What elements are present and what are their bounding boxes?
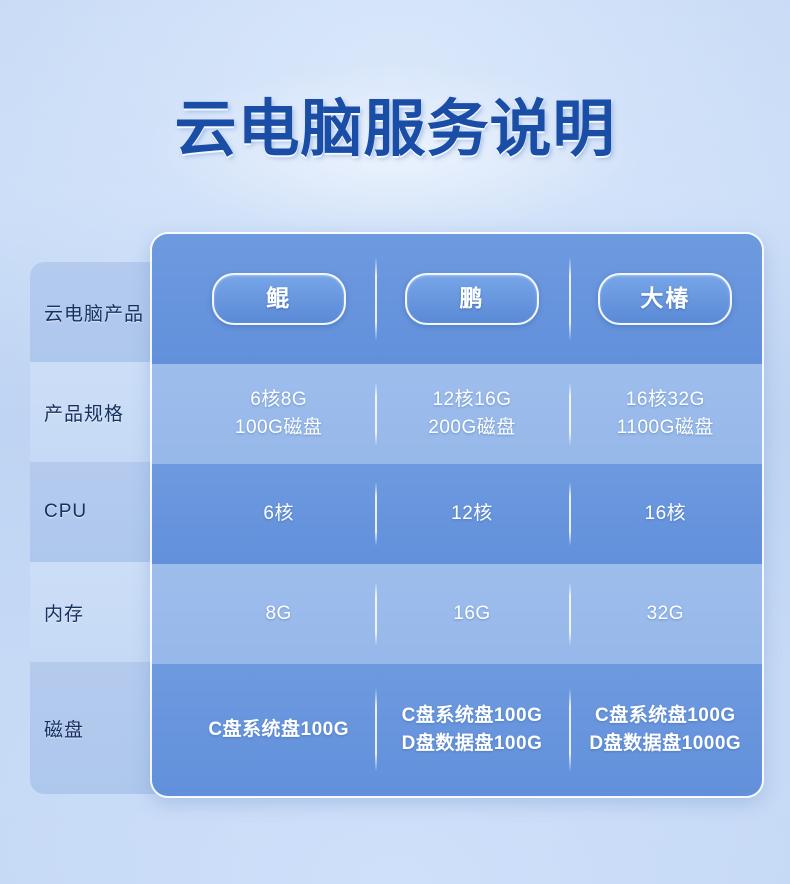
row-left-pad [152,234,182,364]
memory-cell-1: 8G [182,564,375,664]
memory-cell-2: 16G [375,564,568,664]
product-cell-3: 大椿 [569,234,762,364]
spec-cell-3: 16核32G 1100G磁盘 [569,364,762,464]
table-row-product: 鲲 鹏 大椿 [152,234,762,364]
spec-line-1: 6核8G [250,386,307,414]
spec-line-1: 12核16G [432,386,511,414]
table-row-memory: 8G 16G 32G [152,564,762,664]
spec-line-2: 100G磁盘 [235,414,322,442]
spec-line-1: 16核32G [626,386,705,414]
product-badge-peng[interactable]: 鹏 [405,273,539,324]
product-cell-1: 鲲 [182,234,375,364]
disk-cell-3: C盘系统盘100G D盘数据盘1000G [569,664,762,796]
spec-line-2: 1100G磁盘 [617,414,714,442]
row-left-pad [152,364,182,464]
disk-line-1: C盘系统盘100G [402,702,543,730]
disk-line-1: C盘系统盘100G [208,716,349,744]
product-cell-2: 鹏 [375,234,568,364]
row-left-pad [152,664,182,796]
page-root: 云电脑服务说明 云电脑产品 产品规格 CPU 内存 磁盘 鲲 鹏 大椿 [0,0,790,884]
cpu-cell-2: 12核 [375,464,568,564]
row-left-pad [152,564,182,664]
product-badge-kun[interactable]: 鲲 [212,273,346,324]
table-row-cpu: 6核 12核 16核 [152,464,762,564]
table-panel: 鲲 鹏 大椿 6核8G 100G磁盘 12核16G 200G磁盘 [150,232,764,798]
table-row-spec: 6核8G 100G磁盘 12核16G 200G磁盘 16核32G 1100G磁盘 [152,364,762,464]
disk-line-2: D盘数据盘100G [402,730,543,758]
table-row-disk: C盘系统盘100G C盘系统盘100G D盘数据盘100G C盘系统盘100G … [152,664,762,796]
spec-table: 云电脑产品 产品规格 CPU 内存 磁盘 鲲 鹏 大椿 [30,232,760,794]
spec-cell-1: 6核8G 100G磁盘 [182,364,375,464]
product-badge-dachun[interactable]: 大椿 [598,273,732,324]
cpu-cell-3: 16核 [569,464,762,564]
row-left-pad [152,464,182,564]
disk-cell-2: C盘系统盘100G D盘数据盘100G [375,664,568,796]
spec-cell-2: 12核16G 200G磁盘 [375,364,568,464]
page-title: 云电脑服务说明 [0,78,790,168]
cpu-cell-1: 6核 [182,464,375,564]
spec-line-2: 200G磁盘 [428,414,515,442]
disk-line-2: D盘数据盘1000G [589,730,741,758]
disk-cell-1: C盘系统盘100G [182,664,375,796]
memory-cell-3: 32G [569,564,762,664]
disk-line-1: C盘系统盘100G [595,702,736,730]
